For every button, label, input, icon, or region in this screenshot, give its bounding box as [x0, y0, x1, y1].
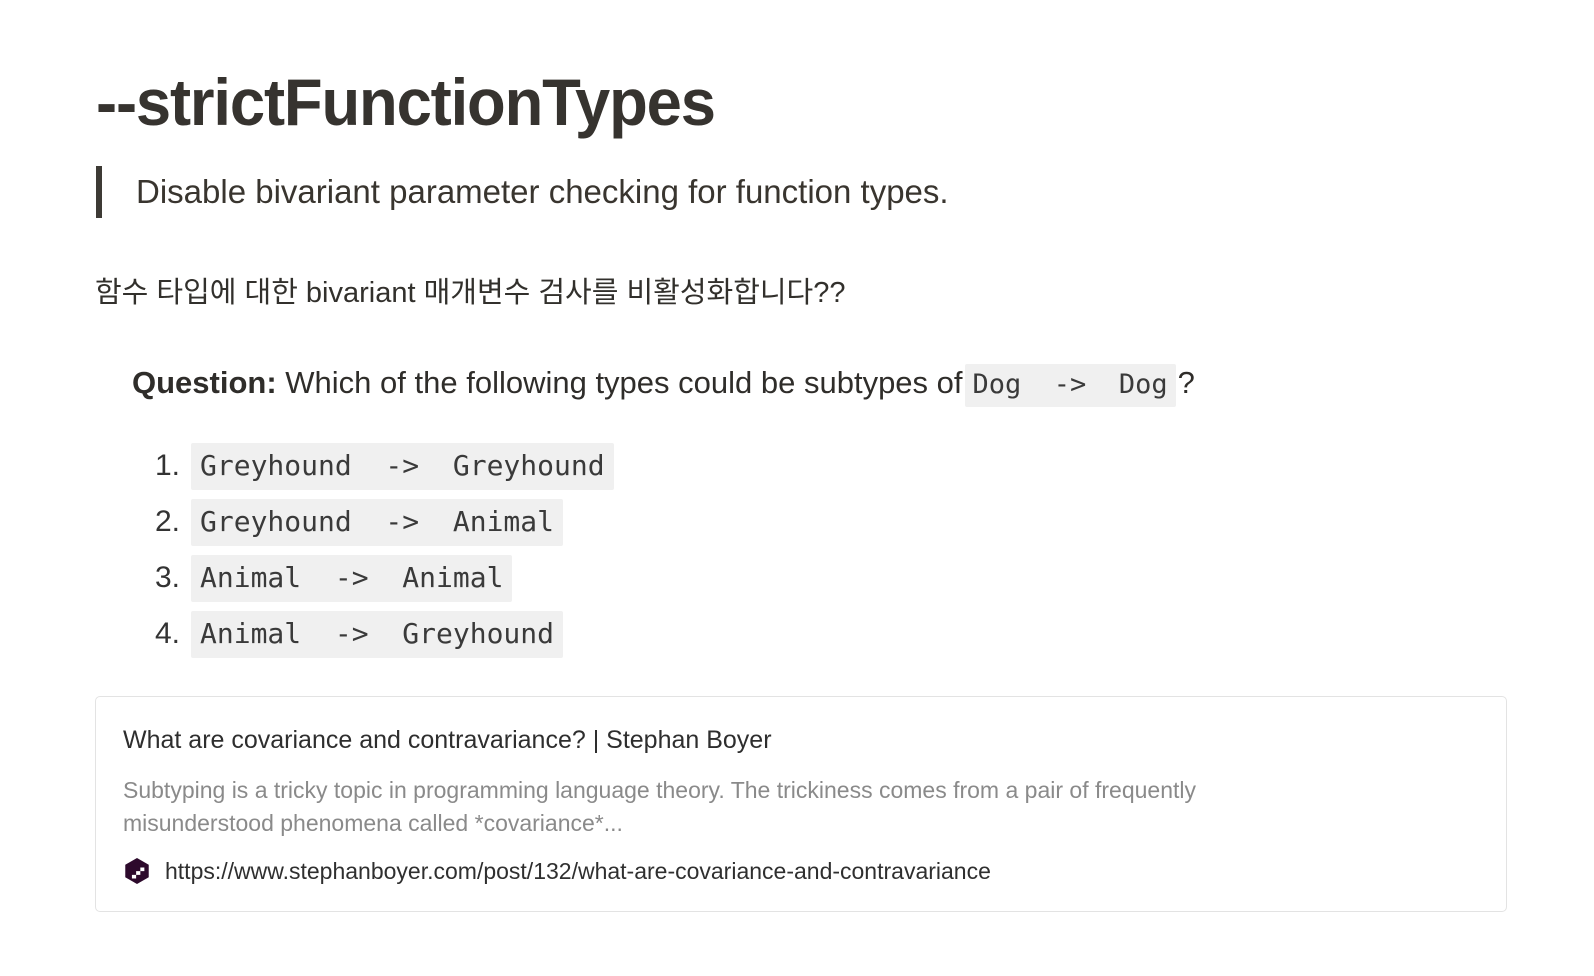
blockquote-text: Disable bivariant parameter checking for… [136, 166, 949, 218]
list-marker: 2. [155, 505, 191, 539]
hexagon-favicon [123, 857, 151, 885]
answer-code-span: Greyhound -> Greyhound [191, 443, 614, 490]
markdown-preview-page: --strictFunctionTypes Disable bivariant … [0, 0, 1594, 976]
question-paragraph: Question: Which of the following types c… [132, 361, 1195, 407]
list-item: 4. Animal -> Greyhound [155, 606, 614, 662]
translation-paragraph: 함수 타입에 대한 bivariant 매개변수 검사를 비활성화합니다?? [95, 272, 846, 314]
question-code-span: Dog -> Dog [965, 364, 1176, 407]
answer-list: 1. Greyhound -> Greyhound 2. Greyhound -… [155, 438, 614, 662]
question-trailing-punctuation: ? [1178, 365, 1195, 400]
page-title: --strictFunctionTypes [96, 66, 715, 140]
link-preview-url-row[interactable]: https://www.stephanboyer.com/post/132/wh… [123, 857, 1480, 885]
link-preview-description: Subtyping is a tricky topic in programmi… [123, 774, 1353, 840]
list-marker: 3. [155, 561, 191, 595]
list-item: 1. Greyhound -> Greyhound [155, 438, 614, 494]
list-marker: 4. [155, 617, 191, 651]
list-marker: 1. [155, 449, 191, 483]
link-preview-url[interactable]: https://www.stephanboyer.com/post/132/wh… [165, 857, 991, 885]
blockquote-accent-bar [96, 166, 102, 218]
list-item: 3. Animal -> Animal [155, 550, 614, 606]
question-text: Which of the following types could be su… [285, 365, 962, 400]
question-label: Question: [132, 365, 277, 400]
blockquote: Disable bivariant parameter checking for… [96, 166, 949, 218]
answer-code-span: Animal -> Animal [191, 555, 512, 602]
link-preview-card[interactable]: What are covariance and contravariance? … [95, 696, 1507, 912]
list-item: 2. Greyhound -> Animal [155, 494, 614, 550]
link-preview-title[interactable]: What are covariance and contravariance? … [123, 725, 1480, 755]
answer-code-span: Animal -> Greyhound [191, 611, 563, 658]
answer-code-span: Greyhound -> Animal [191, 499, 563, 546]
